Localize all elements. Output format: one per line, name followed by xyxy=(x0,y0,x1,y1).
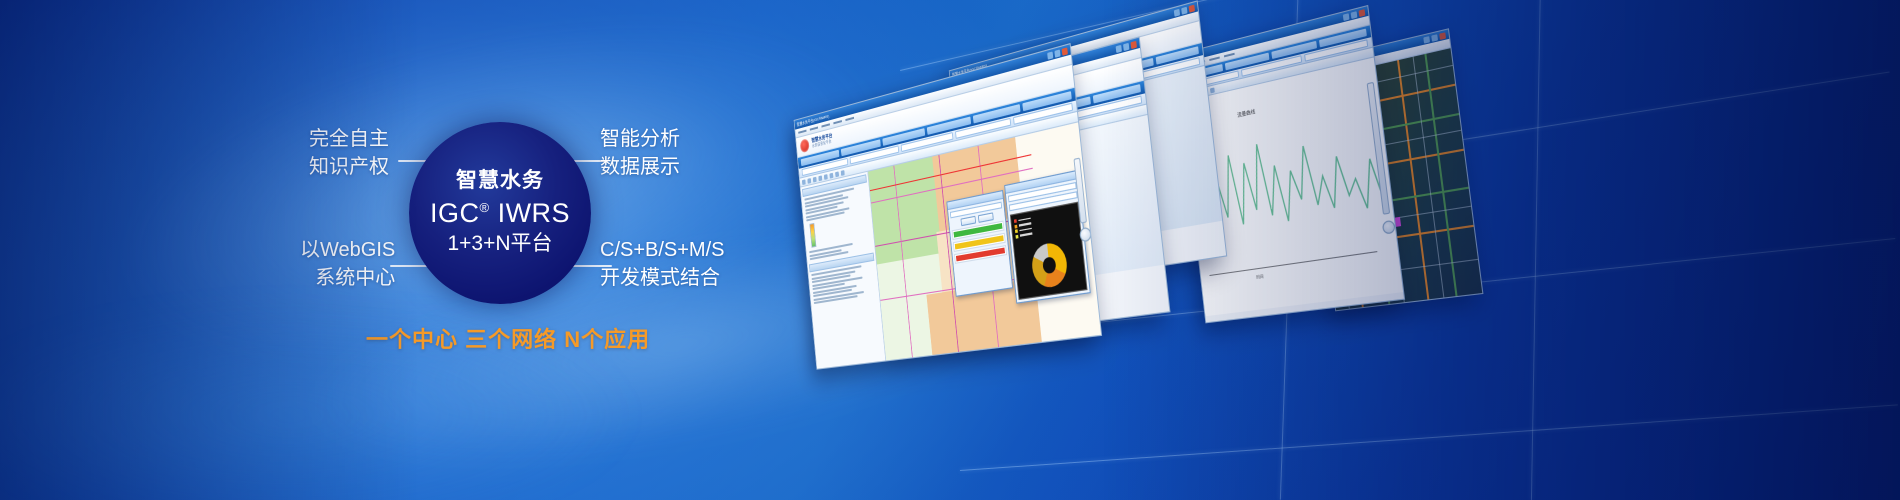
feature-bottom-left-line2: 系统中心 xyxy=(300,264,395,292)
hub-product-suffix: IWRS xyxy=(498,198,571,228)
feature-top-right-line2: 数据展示 xyxy=(600,153,680,181)
feature-bottom-right-line2: 开发模式结合 xyxy=(600,264,725,292)
feature-top-left-line1: 完全自主 xyxy=(309,125,389,153)
close-icon xyxy=(1189,4,1195,12)
map-pan-control-icon[interactable] xyxy=(1079,227,1092,243)
hub-title: 智慧水务 xyxy=(456,169,544,194)
feature-top-left: 完全自主 知识产权 xyxy=(309,125,389,182)
app-logo-icon xyxy=(800,138,810,153)
feature-top-left-line2: 知识产权 xyxy=(309,153,389,181)
hub-product-name: IGC® IWRS xyxy=(430,198,570,230)
clear-button[interactable] xyxy=(977,212,993,223)
close-icon xyxy=(1359,9,1366,17)
feature-top-right: 智能分析 数据展示 xyxy=(600,125,680,182)
registered-mark-icon: ® xyxy=(479,200,489,215)
chart-title: 流量曲线 xyxy=(1237,108,1256,119)
close-icon xyxy=(1130,40,1136,48)
product-hub-circle: 智慧水务 IGC® IWRS 1+3+N平台 xyxy=(409,122,591,304)
legend-gradient xyxy=(809,223,816,248)
donut-panel xyxy=(1010,202,1088,300)
chart-xlabel: 时间 xyxy=(1256,274,1264,281)
screenshot-stage: 影像地图 xyxy=(760,0,1520,500)
donut-chart xyxy=(1030,241,1069,290)
donut-legend xyxy=(1014,216,1033,238)
promo-banner: 完全自主 知识产权 以WebGIS 系统中心 智能分析 数据展示 C/S+B/S… xyxy=(0,0,1900,500)
banner-tagline: 一个中心 三个网络 N个应用 xyxy=(366,322,650,354)
query-button[interactable] xyxy=(960,216,976,227)
close-icon xyxy=(1439,32,1446,40)
feature-bottom-left: 以WebGIS 系统中心 xyxy=(300,236,395,293)
feature-bottom-left-line1: 以WebGIS xyxy=(300,236,395,264)
hub-platform: 1+3+N平台 xyxy=(447,232,552,257)
win-front[interactable]: 智慧水务平台(IGC®IWRS) 智慧水务平台 水务信息化平台 xyxy=(794,43,1102,370)
hub-product: IGC xyxy=(430,198,480,228)
feature-bottom-right-line1: C/S+B/S+M/S xyxy=(600,236,725,264)
query-dialog[interactable] xyxy=(946,190,1013,297)
feature-bottom-right: C/S+B/S+M/S 开发模式结合 xyxy=(600,236,725,293)
feature-top-right-line1: 智能分析 xyxy=(600,125,680,153)
close-icon xyxy=(1062,47,1068,55)
